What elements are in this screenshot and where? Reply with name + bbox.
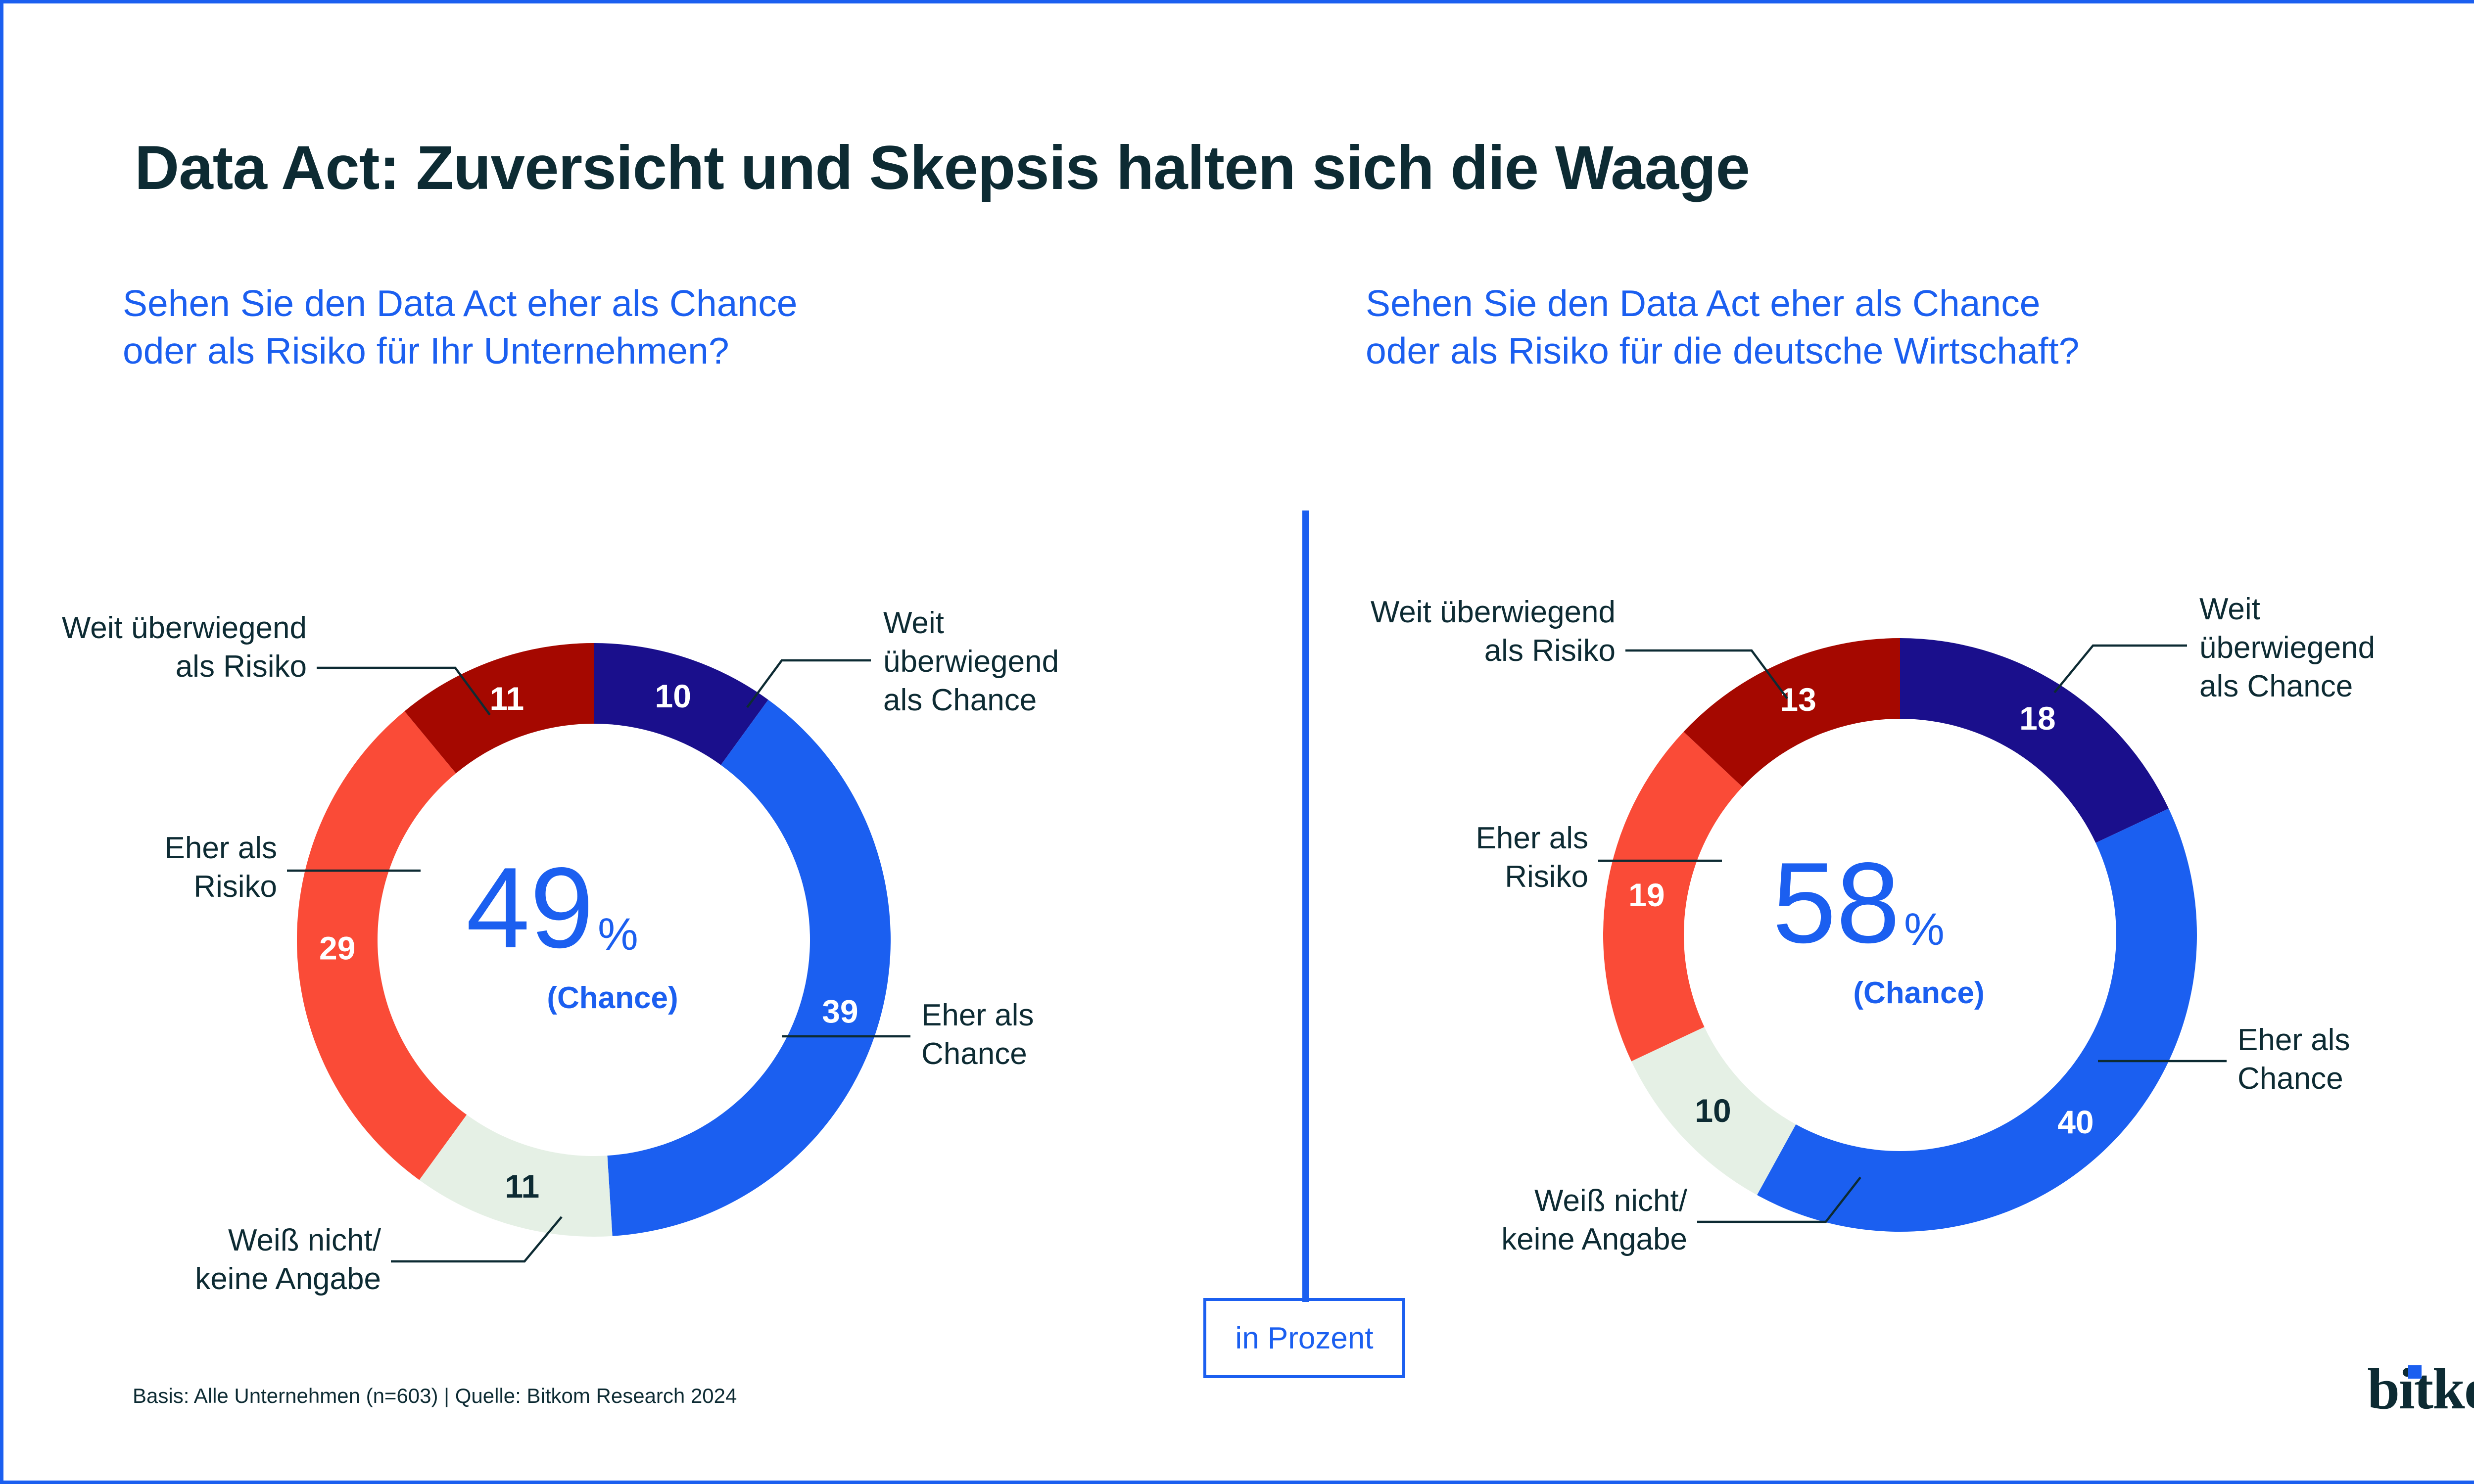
donut-value-eher-chance: 39	[822, 993, 858, 1030]
chart-subtitle-left-line1: Sehen Sie den Data Act eher als Chance	[123, 279, 797, 327]
svg-text:Weit: Weit	[2199, 592, 2260, 626]
bitkom-logo-dot-icon	[2408, 1365, 2422, 1379]
svg-text:als Chance: als Chance	[883, 683, 1037, 717]
donut-segment-eher-risiko[interactable]	[1603, 732, 1742, 1061]
donut-value-weit-chance: 18	[2019, 700, 2055, 737]
chart-subtitle-right-line1: Sehen Sie den Data Act eher als Chance	[1366, 279, 2079, 327]
donut-segments-right	[1603, 638, 2197, 1232]
donut-chart-wirtschaft: 18 40 10 19 13 Weit überwiegend als Risi…	[1356, 485, 2474, 1316]
donut-label-weit-chance-left: Weit überwiegend als Chance	[883, 606, 1059, 717]
donut-label-weiss-nicht-left: Weiß nicht/ keine Angabe	[195, 1223, 381, 1296]
donut-label-weit-chance-right: Weit überwiegend als Chance	[2199, 592, 2375, 703]
donut-label-weiss-nicht-right: Weiß nicht/ keine Angabe	[1501, 1184, 1688, 1256]
donut-center-caption: (Chance)	[1853, 976, 1984, 1010]
donut-center-value: 49	[466, 844, 594, 972]
donut-label-weit-risiko-left: Weit überwiegend als Risiko	[62, 611, 307, 684]
donut-segment-weit-chance[interactable]	[1900, 638, 2169, 843]
donut-center-percent-sign: %	[598, 909, 638, 960]
chart-subtitle-right-line2: oder als Risiko für die deutsche Wirtsch…	[1366, 327, 2079, 374]
chart-subtitle-left: Sehen Sie den Data Act eher als Chance o…	[123, 279, 797, 374]
bitkom-logo: bitkom	[2367, 1355, 2474, 1423]
chart-subtitle-left-line2: oder als Risiko für Ihr Unternehmen?	[123, 327, 797, 374]
svg-text:als Risiko: als Risiko	[176, 649, 307, 684]
donut-segment-eher-chance[interactable]	[607, 700, 891, 1236]
svg-text:überwiegend: überwiegend	[883, 645, 1059, 679]
donut-label-eher-chance-right: Eher als Chance	[2237, 1023, 2350, 1096]
svg-text:keine Angabe: keine Angabe	[195, 1262, 381, 1296]
svg-text:keine Angabe: keine Angabe	[1501, 1222, 1687, 1256]
svg-text:Eher als: Eher als	[1476, 821, 1588, 855]
donut-label-eher-risiko-right: Eher als Risiko	[1476, 821, 1588, 894]
donut-value-eher-risiko: 29	[319, 929, 355, 966]
svg-text:Weit: Weit	[883, 606, 944, 640]
svg-text:Chance: Chance	[2237, 1062, 2343, 1096]
svg-text:Weiß nicht/: Weiß nicht/	[228, 1223, 381, 1257]
donut-center-caption: (Chance)	[547, 981, 678, 1015]
svg-text:Weit überwiegend: Weit überwiegend	[62, 611, 307, 645]
donut-center-percent-sign: %	[1904, 904, 1945, 955]
donut-value-weit-risiko: 11	[489, 680, 524, 717]
svg-text:überwiegend: überwiegend	[2199, 631, 2375, 665]
footer-source-note: Basis: Alle Unternehmen (n=603) | Quelle…	[133, 1384, 737, 1408]
svg-text:Chance: Chance	[921, 1037, 1027, 1071]
donut-chart-unternehmen: 10 39 11 29 11 Weit überwiegend als Risi…	[79, 490, 1267, 1321]
donut-value-weit-chance: 10	[655, 678, 691, 714]
svg-text:Eher als: Eher als	[2237, 1023, 2350, 1057]
svg-text:Risiko: Risiko	[1505, 860, 1588, 894]
donut-segments-left	[297, 643, 891, 1237]
leader-line-weit-chance	[2054, 646, 2187, 693]
svg-text:Risiko: Risiko	[193, 870, 277, 904]
donut-label-eher-risiko-left: Eher als Risiko	[165, 831, 277, 904]
donut-value-weiss-nicht: 11	[505, 1168, 539, 1205]
page-title: Data Act: Zuversicht und Skepsis halten …	[135, 133, 1750, 203]
unit-box-label: in Prozent	[1235, 1321, 1373, 1356]
svg-text:Eher als: Eher als	[165, 831, 277, 865]
donut-value-weiss-nicht: 10	[1695, 1092, 1731, 1129]
svg-text:als Chance: als Chance	[2199, 669, 2353, 703]
donut-center-left: 49 % (Chance)	[466, 844, 678, 1015]
donut-value-eher-risiko: 19	[1628, 877, 1665, 913]
donut-value-eher-chance: 40	[2057, 1104, 2093, 1140]
svg-text:Weiß nicht/: Weiß nicht/	[1534, 1184, 1688, 1218]
svg-text:Weit überwiegend: Weit überwiegend	[1371, 595, 1616, 629]
vertical-divider	[1302, 510, 1309, 1302]
donut-label-eher-chance-left: Eher als Chance	[921, 998, 1034, 1071]
donut-label-weit-risiko-right: Weit überwiegend als Risiko	[1371, 595, 1616, 668]
chart-subtitle-right: Sehen Sie den Data Act eher als Chance o…	[1366, 279, 2079, 374]
donut-center-value: 58	[1772, 839, 1900, 967]
donut-center-right: 58 % (Chance)	[1772, 839, 1985, 1010]
donut-value-weit-risiko: 13	[1780, 681, 1816, 718]
svg-text:als Risiko: als Risiko	[1484, 634, 1616, 668]
svg-text:Eher als: Eher als	[921, 998, 1034, 1032]
